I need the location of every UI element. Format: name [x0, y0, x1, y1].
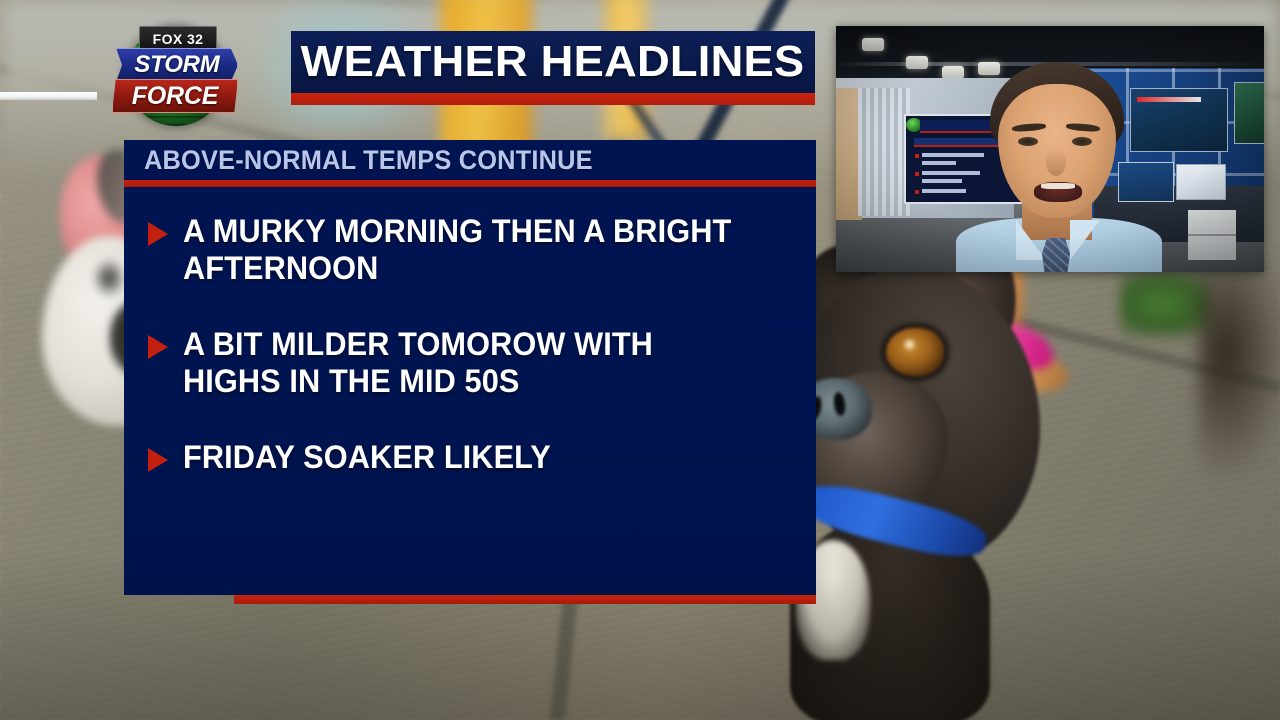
brand-label-force: FORCE [132, 84, 219, 109]
storm-force-logo: FOX 32 STORM FORCE [112, 22, 240, 130]
red-triangle-bullet-icon [148, 448, 168, 472]
list-item: FRIDAY SOAKER LIKELY [124, 439, 816, 476]
panel-bottom-red-rule [234, 595, 816, 604]
list-item: A MURKY MORNING THEN A BRIGHT AFTERNOON [124, 213, 816, 288]
title-bar-red-underline [291, 93, 815, 105]
studio-ceiling-light [906, 56, 928, 69]
background-dark-blur [1198, 268, 1280, 478]
headline-text: A MURKY MORNING THEN A BRIGHT AFTERNOON [183, 213, 759, 288]
red-triangle-bullet-icon [148, 335, 168, 359]
meteorologist-video-inset [836, 26, 1264, 272]
brand-label-storm: STORM [134, 53, 219, 77]
decorative-white-rule [0, 92, 97, 100]
headlines-panel: ABOVE-NORMAL TEMPS CONTINUE A MURKY MORN… [124, 140, 816, 595]
mini-bullet-icon [915, 190, 919, 194]
studio-desk-monitor-right [1176, 164, 1226, 200]
meteorologist-mouth [1034, 182, 1082, 202]
mini-bullet-icon [915, 154, 919, 158]
meteorologist-nose [1046, 148, 1066, 176]
meteorologist-tie [1042, 238, 1070, 272]
panel-subtitle-row: ABOVE-NORMAL TEMPS CONTINUE [124, 140, 816, 180]
network-label: FOX 32 [153, 32, 204, 46]
list-item: A BIT MILDER TOMOROW WITH HIGHS IN THE M… [124, 326, 816, 401]
dog-right-eye [886, 328, 944, 376]
brand-badge-storm: STORM [116, 48, 238, 82]
studio-side-monitor [1234, 82, 1264, 144]
page-title: WEATHER HEADLINES [301, 40, 805, 84]
studio-cabinet [1188, 210, 1236, 260]
mini-bullet-line [922, 161, 956, 165]
panel-subtitle-red-rule [124, 180, 816, 187]
mini-bullet-icon [915, 172, 919, 176]
red-triangle-bullet-icon [148, 222, 168, 246]
headline-text: FRIDAY SOAKER LIKELY [183, 439, 551, 476]
meteorologist [954, 62, 1164, 272]
meteorologist-collar-right [1070, 220, 1100, 260]
weather-headlines-title-bar: WEATHER HEADLINES [291, 31, 815, 93]
dog-left-patch-upper [92, 258, 126, 298]
brand-badge-force: FORCE [112, 79, 238, 113]
broadcast-screen: WEATHER HEADLINES FOX 32 STORM FORCE ABO… [0, 0, 1280, 720]
headline-text: A BIT MILDER TOMOROW WITH HIGHS IN THE M… [183, 326, 759, 401]
studio-wall-slats [858, 88, 910, 216]
panel-subtitle: ABOVE-NORMAL TEMPS CONTINUE [144, 147, 593, 174]
headline-bullet-list: A MURKY MORNING THEN A BRIGHT AFTERNOON … [124, 187, 816, 476]
studio-ceiling-light [862, 38, 884, 51]
meteorologist-eye-left [1018, 137, 1038, 146]
network-badge: FOX 32 [139, 26, 217, 51]
meteorologist-collar-left [1016, 220, 1046, 260]
meteorologist-eye-right [1072, 137, 1092, 146]
